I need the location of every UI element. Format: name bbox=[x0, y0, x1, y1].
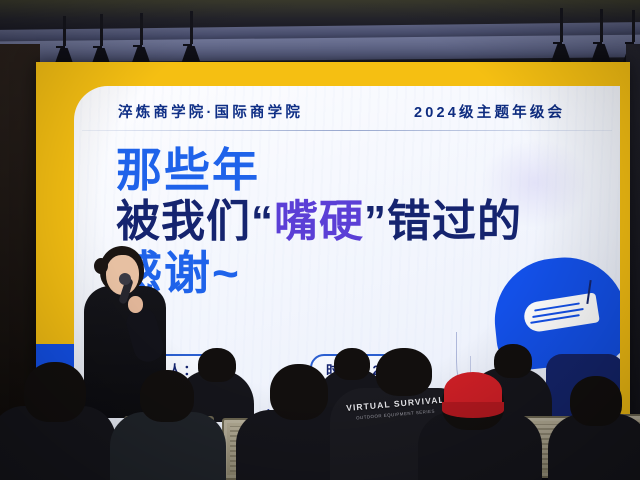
ceiling-spotlight bbox=[560, 8, 563, 42]
person-head bbox=[24, 362, 86, 422]
speaker-hair-bun bbox=[94, 258, 108, 274]
slide-title-highlight: 嘴硬 bbox=[274, 197, 364, 246]
audience-person bbox=[548, 376, 640, 480]
lecture-hall-photo: 淬炼商学院·国际商学院 2024级主题年级会 那些年 被我们“嘴硬”错过的 感谢… bbox=[0, 0, 640, 480]
speaker-hand bbox=[128, 296, 143, 313]
audience-person bbox=[110, 370, 226, 480]
ceiling-spotlight bbox=[600, 9, 603, 42]
microphone-head bbox=[119, 273, 131, 285]
ceiling-spotlight bbox=[632, 10, 635, 42]
slide-header: 淬炼商学院·国际商学院 2024级主题年级会 bbox=[74, 94, 620, 128]
person-torso bbox=[110, 412, 226, 480]
person-head bbox=[140, 370, 194, 422]
audience-foreground: VIRTUAL SURVIVALIST OUTDOOR EQUIPMENT SE… bbox=[0, 330, 640, 480]
person-head bbox=[270, 364, 328, 420]
audience-person-red-cap bbox=[418, 372, 542, 480]
ceiling-spotlight bbox=[63, 16, 66, 46]
person-head bbox=[570, 376, 622, 426]
ceiling-spotlight bbox=[190, 11, 193, 44]
slide-header-left: 淬炼商学院·国际商学院 bbox=[118, 101, 303, 122]
slide-header-right: 2024级主题年级会 bbox=[414, 101, 565, 122]
red-cap-brim bbox=[442, 402, 504, 418]
slide-title-line1: 那些年 bbox=[116, 146, 620, 195]
ceiling-spotlight bbox=[100, 14, 103, 46]
slide-header-divider bbox=[82, 130, 612, 131]
audience-person bbox=[0, 362, 120, 480]
ceiling-spotlight bbox=[140, 13, 143, 45]
slide-title-line2-prefix: 被我们“ bbox=[116, 197, 274, 246]
